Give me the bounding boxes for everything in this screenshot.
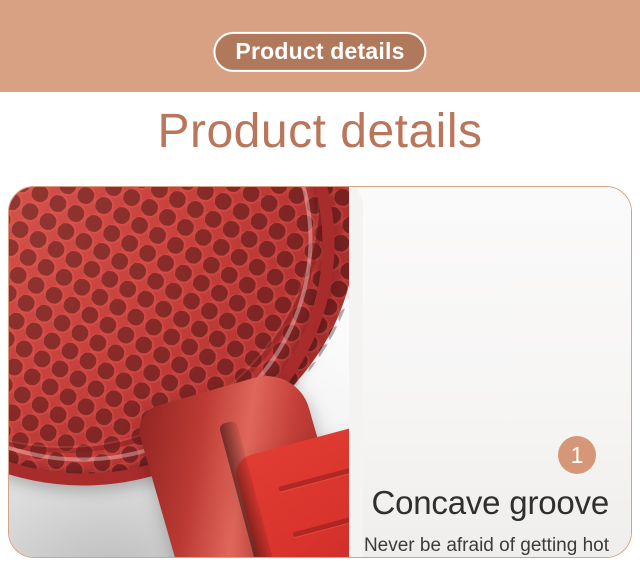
top-banner: Product details xyxy=(0,0,640,92)
product-details-page: Product details Product details 1 Concav… xyxy=(0,0,640,566)
page-title: Product details xyxy=(0,104,640,159)
feature-line: Never be afraid of getting hot xyxy=(309,531,609,558)
feature-card: 1 Concave groove Never be afraid of gett… xyxy=(8,186,632,558)
product-photo xyxy=(9,187,349,557)
feature-number-badge: 1 xyxy=(558,436,596,474)
feature-description: Never be afraid of getting hot Concave g… xyxy=(309,531,609,558)
feature-title: Concave groove xyxy=(371,484,609,522)
banner-pill-label: Product details xyxy=(213,32,426,72)
